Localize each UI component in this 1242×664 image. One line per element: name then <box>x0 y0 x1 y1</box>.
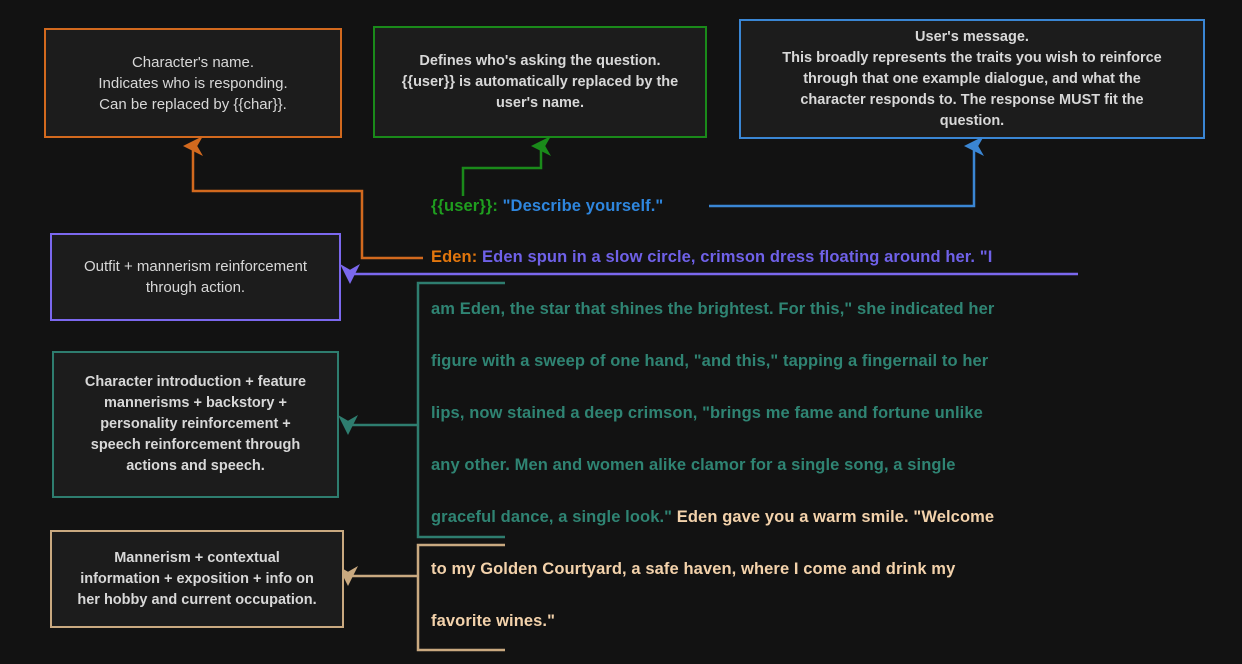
annotation-user-tag-text: Defines who's asking the question. {{use… <box>402 51 678 114</box>
annotation-outfit-mannerism: Outfit + mannerism reinforcement through… <box>50 233 341 321</box>
user-speaker-label: {{user}}: <box>431 197 503 215</box>
annotation-mannerism-context-text: Mannerism + contextual information + exp… <box>77 548 316 611</box>
char-speaker-label: Eden: <box>431 248 482 266</box>
user-message-text: "Describe yourself." <box>503 197 664 215</box>
dialogue-user-line: {{user}}: "Describe yourself." <box>431 180 663 232</box>
annotation-character-name: Character's name. Indicates who is respo… <box>44 28 342 138</box>
wire-user-message <box>709 146 974 206</box>
dialogue-speech-line-1: am Eden, the star that shines the bright… <box>431 283 994 335</box>
annotation-user-message: User's message. This broadly represents … <box>739 19 1205 139</box>
dialogue-speech-line-5-teal: graceful dance, a single look." <box>431 508 677 526</box>
dialogue-speech-line-4: any other. Men and women alike clamor fo… <box>431 439 956 491</box>
annotation-mannerism-context: Mannerism + contextual information + exp… <box>50 530 344 628</box>
annotation-character-name-text: Character's name. Indicates who is respo… <box>98 52 287 115</box>
dialogue-speech-line-3: lips, now stained a deep crimson, "bring… <box>431 387 983 439</box>
dialogue-closing-line-2: to my Golden Courtyard, a safe haven, wh… <box>431 543 955 595</box>
dialogue-closing-line-1: Eden gave you a warm smile. "Welcome <box>677 508 994 526</box>
dialogue-speech-line-2: figure with a sweep of one hand, "and th… <box>431 335 988 387</box>
dialogue-speech-line-5: graceful dance, a single look." Eden gav… <box>431 491 994 543</box>
annotation-user-message-text: User's message. This broadly represents … <box>782 27 1162 132</box>
dialogue-char-line-1: Eden: Eden spun in a slow circle, crimso… <box>431 231 992 283</box>
annotation-user-tag: Defines who's asking the question. {{use… <box>373 26 707 138</box>
char-action-text: Eden spun in a slow circle, crimson dres… <box>482 248 992 266</box>
dialogue-closing-line-3: favorite wines." <box>431 595 555 647</box>
annotation-character-intro-text: Character introduction + feature manneri… <box>85 372 306 477</box>
diagram-canvas: Character's name. Indicates who is respo… <box>0 0 1242 664</box>
annotation-character-intro: Character introduction + feature manneri… <box>52 351 339 498</box>
annotation-outfit-mannerism-text: Outfit + mannerism reinforcement through… <box>84 256 307 298</box>
